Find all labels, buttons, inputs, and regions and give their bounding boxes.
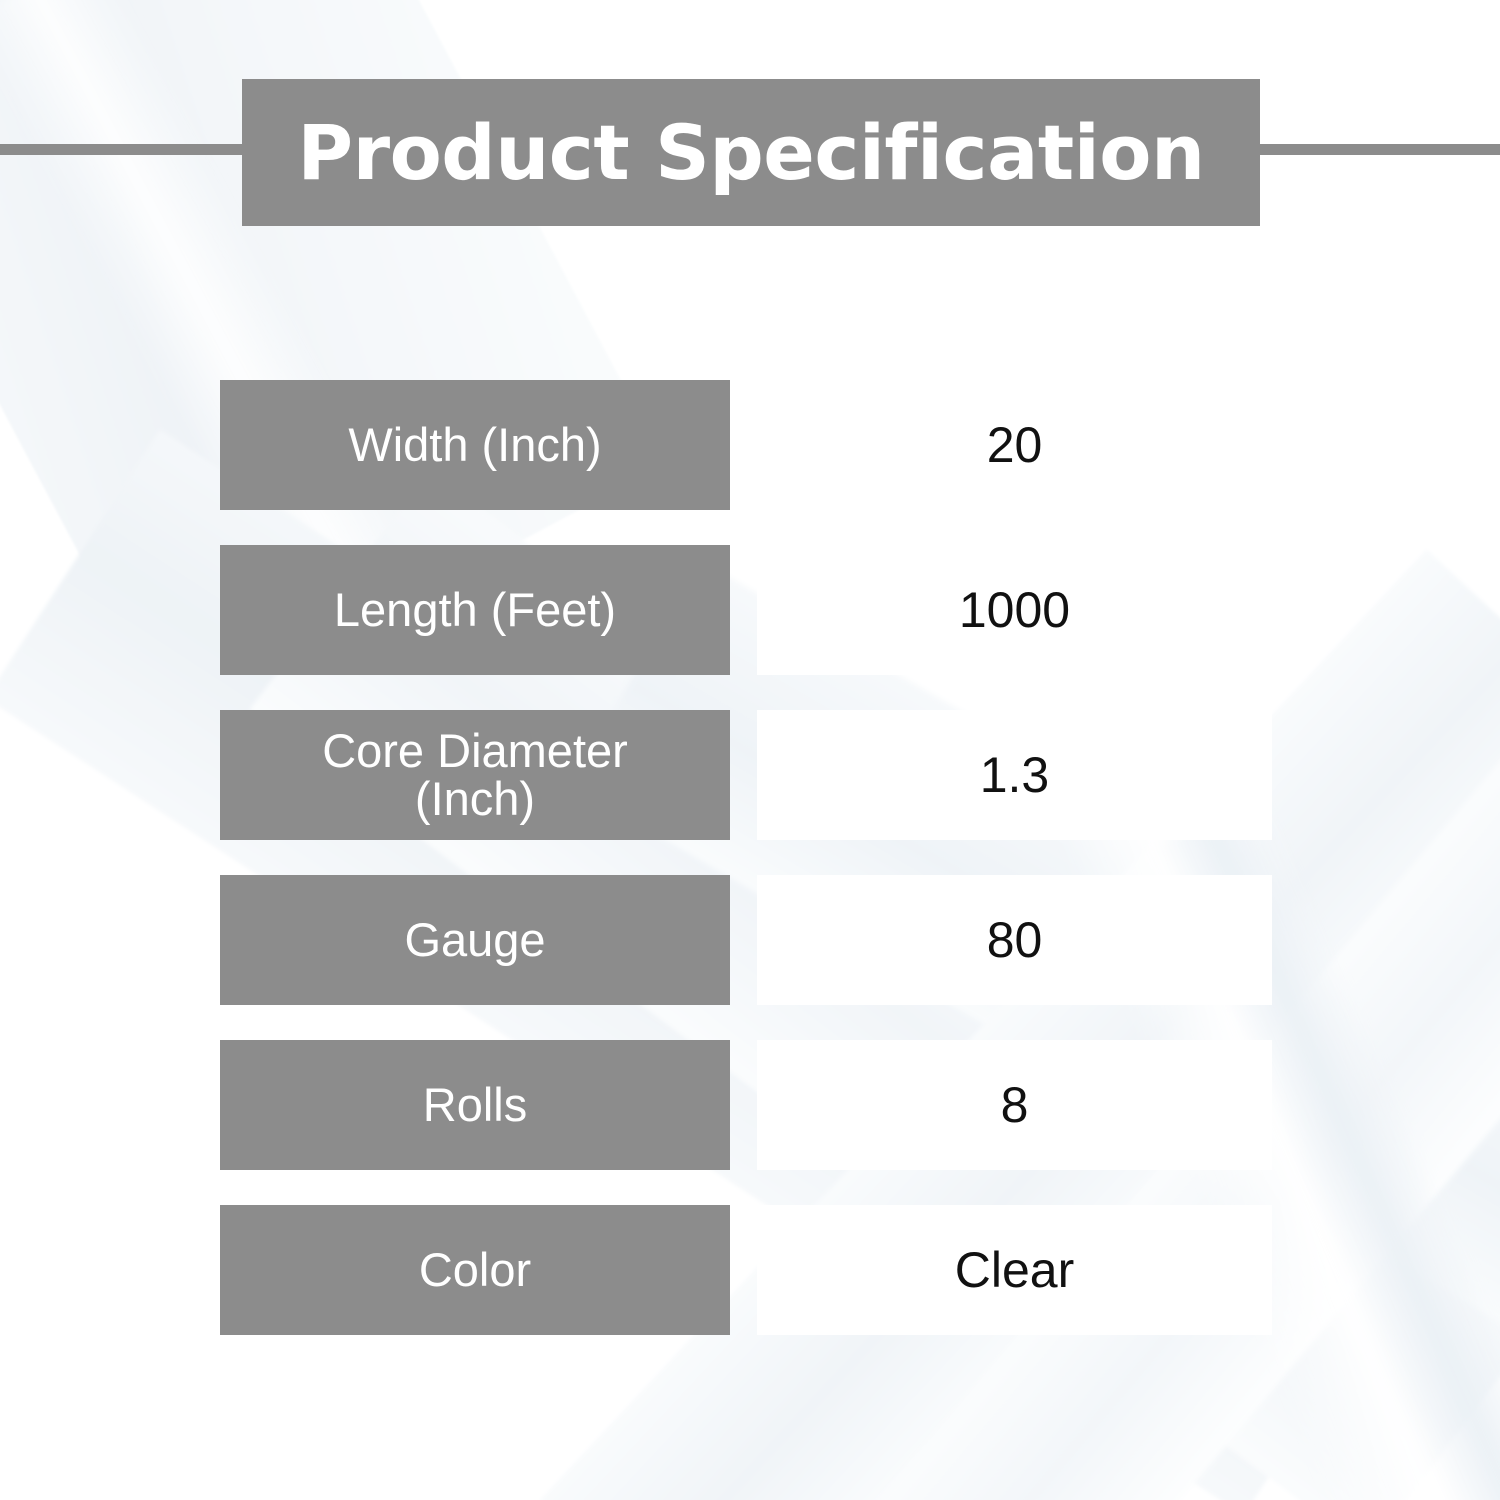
spec-label-cell-length: Length (Feet): [220, 545, 730, 675]
spec-value-cell-color: Clear: [757, 1205, 1272, 1335]
table-row: Width (Inch) 20: [0, 380, 1500, 510]
spec-value-text: 1.3: [980, 750, 1050, 800]
spec-label-cell-gauge: Gauge: [220, 875, 730, 1005]
page-title: Product Specification: [297, 115, 1204, 191]
spec-label-text: Core Diameter (Inch): [322, 727, 628, 823]
spec-value-text: 8: [1001, 1080, 1029, 1130]
spec-label-cell-color: Color: [220, 1205, 730, 1335]
spec-value-text: 20: [987, 420, 1043, 470]
spec-value-cell-length: 1000: [757, 545, 1272, 675]
product-specification-card: Product Specification Width (Inch) 20 Le…: [0, 0, 1500, 1500]
spec-label-text: Gauge: [404, 916, 545, 964]
title-banner: Product Specification: [242, 79, 1260, 226]
spec-label-cell-width: Width (Inch): [220, 380, 730, 510]
spec-value-text: 80: [987, 915, 1043, 965]
spec-label-text: Length (Feet): [334, 586, 616, 634]
table-row: Color Clear: [0, 1205, 1500, 1335]
table-row: Gauge 80: [0, 875, 1500, 1005]
table-row: Core Diameter (Inch) 1.3: [0, 710, 1500, 840]
spec-value-text: Clear: [955, 1245, 1074, 1295]
spec-label-text: Rolls: [423, 1081, 527, 1129]
spec-value-cell-width: 20: [757, 380, 1272, 510]
specification-table: Width (Inch) 20 Length (Feet) 1000 Core …: [0, 380, 1500, 1370]
spec-value-cell-rolls: 8: [757, 1040, 1272, 1170]
table-row: Length (Feet) 1000: [0, 545, 1500, 675]
table-row: Rolls 8: [0, 1040, 1500, 1170]
spec-label-cell-core-diameter: Core Diameter (Inch): [220, 710, 730, 840]
spec-label-text: Color: [419, 1246, 531, 1294]
spec-value-text: 1000: [959, 585, 1070, 635]
spec-value-cell-core-diameter: 1.3: [757, 710, 1272, 840]
spec-label-text: Width (Inch): [348, 421, 601, 469]
spec-label-cell-rolls: Rolls: [220, 1040, 730, 1170]
spec-value-cell-gauge: 80: [757, 875, 1272, 1005]
